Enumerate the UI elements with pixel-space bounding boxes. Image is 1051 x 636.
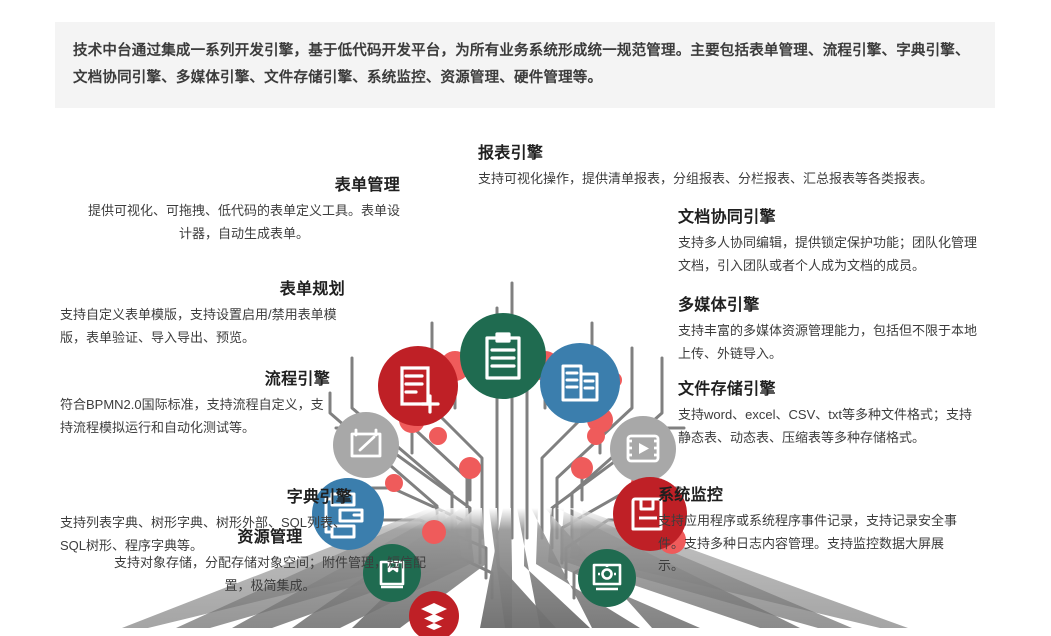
label-title: 报表引擎 (478, 144, 998, 163)
node-multimedia-engine[interactable] (610, 416, 676, 482)
label-desc: 支持丰富的多媒体资源管理能力，包括但不限于本地上传、外链导入。 (678, 320, 988, 365)
label-multimedia-engine: 多媒体引擎 支持丰富的多媒体资源管理能力，包括但不限于本地上传、外链导入。 (678, 296, 988, 365)
label-title: 多媒体引擎 (678, 296, 988, 315)
accent-dot (571, 457, 593, 479)
label-report-engine: 报表引擎 支持可视化操作，提供清单报表，分组报表、分栏报表、汇总报表等各类报表。 (478, 144, 998, 191)
label-system-monitoring: 系统监控 支持应用程序或系统程序事件记录，支持记录安全事件。支持多种日志内容管理… (658, 486, 968, 577)
label-title: 文档协同引擎 (678, 208, 988, 227)
node-system-monitoring[interactable] (578, 549, 636, 607)
label-title: 流程引擎 (60, 370, 330, 389)
label-process-engine: 流程引擎 符合BPMN2.0国际标准，支持流程自定义，支持流程模拟运行和自动化测… (60, 370, 330, 439)
accent-dot (429, 427, 447, 445)
label-form-planning: 表单规划 支持自定义表单模版，支持设置启用/禁用表单模版，表单验证、导入导出、预… (60, 280, 345, 349)
label-file-storage-engine: 文件存储引擎 支持word、excel、CSV、txt等多种文件格式；支持静态表… (678, 380, 983, 449)
label-desc: 符合BPMN2.0国际标准，支持流程自定义，支持流程模拟运行和自动化测试等。 (60, 394, 330, 439)
label-title: 表单管理 (88, 176, 400, 195)
label-desc: 支持自定义表单模版，支持设置启用/禁用表单模版，表单验证、导入导出、预览。 (60, 304, 345, 349)
label-resource-management: 资源管理 支持对象存储，分配存储对象空间；附件管理，短信配置，极简集成。 (110, 528, 430, 597)
label-desc: 提供可视化、可拖拽、低代码的表单定义工具。表单设计器，自动生成表单。 (88, 200, 400, 245)
node-report-engine[interactable] (460, 313, 546, 399)
label-desc: 支持多人协同编辑，提供锁定保护功能；团队化管理文档，引入团队或者个人成为文档的成… (678, 232, 988, 277)
node-circle (378, 346, 458, 426)
label-desc: 支持word、excel、CSV、txt等多种文件格式；支持静态表、动态表、压缩… (678, 404, 983, 449)
summary-banner-text: 技术中台通过集成一系列开发引擎，基于低代码开发平台，为所有业务系统形成统一规范管… (55, 38, 995, 92)
label-title: 系统监控 (658, 486, 968, 505)
node-form-planning[interactable] (333, 412, 399, 478)
node-circle (460, 313, 546, 399)
accent-dot (385, 474, 403, 492)
label-document-collaboration: 文档协同引擎 支持多人协同编辑，提供锁定保护功能；团队化管理文档，引入团队或者个… (678, 208, 988, 277)
label-title: 字典引擎 (60, 488, 352, 507)
label-desc: 支持可视化操作，提供清单报表，分组报表、分栏报表、汇总报表等各类报表。 (478, 168, 998, 190)
label-desc: 支持应用程序或系统程序事件记录，支持记录安全事件。支持多种日志内容管理。支持监控… (658, 510, 968, 577)
label-form-management: 表单管理 提供可视化、可拖拽、低代码的表单定义工具。表单设计器，自动生成表单。 (88, 176, 400, 245)
label-title: 文件存储引擎 (678, 380, 983, 399)
accent-dot (587, 427, 605, 445)
summary-banner: 技术中台通过集成一系列开发引擎，基于低代码开发平台，为所有业务系统形成统一规范管… (55, 22, 995, 108)
label-title: 表单规划 (60, 280, 345, 299)
label-desc: 支持对象存储，分配存储对象空间；附件管理，短信配置，极简集成。 (110, 552, 430, 597)
label-title: 资源管理 (110, 528, 430, 547)
accent-dot (459, 457, 481, 479)
node-document-collaboration[interactable] (540, 343, 620, 423)
engine-tree-diagram: 表单管理 提供可视化、可拖拽、低代码的表单定义工具。表单设计器，自动生成表单。 … (0, 108, 1051, 636)
node-form-management[interactable] (378, 346, 458, 426)
